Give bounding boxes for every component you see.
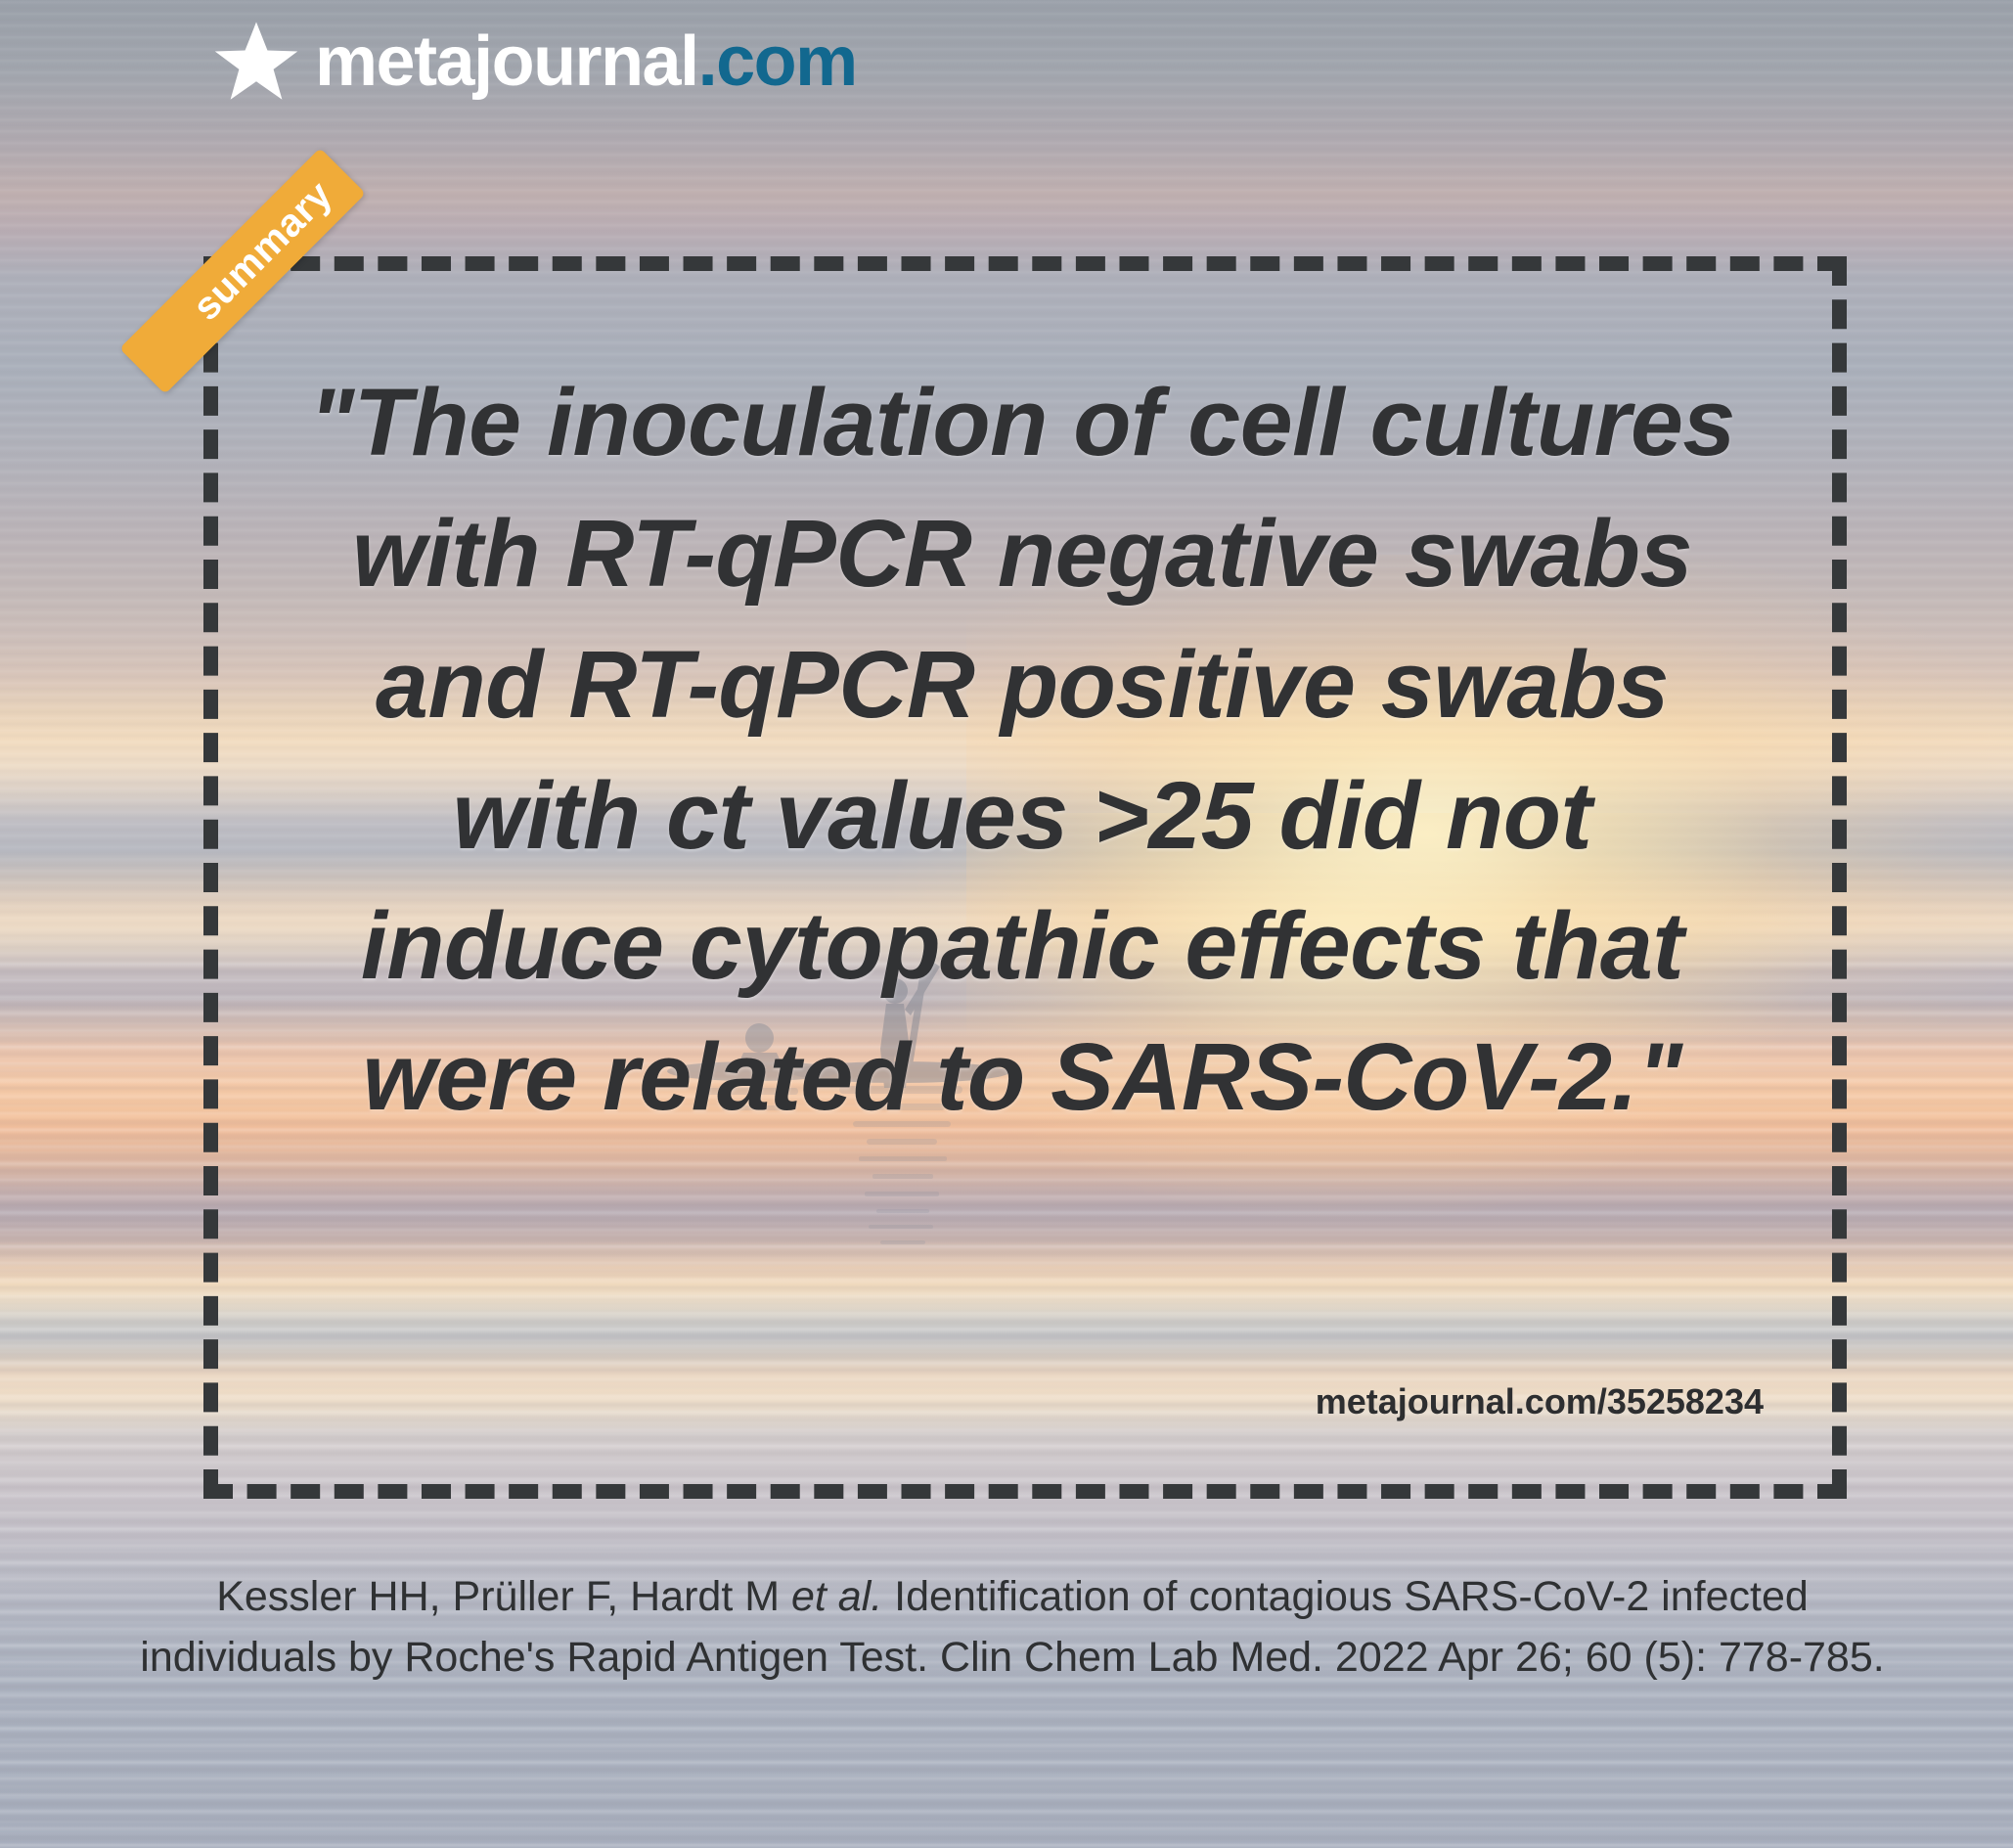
source-url[interactable]: metajournal.com/35258234 [1316, 1381, 1764, 1422]
brand-logo[interactable]: metajournal.com [213, 20, 857, 104]
citation-authors: Kessler HH, Prüller F, Hardt M [216, 1573, 791, 1620]
brand-name: metajournal [315, 23, 698, 101]
citation-etal: et al. [791, 1573, 882, 1620]
star-icon [213, 20, 299, 104]
quote-text: "The inoculation of cell cultures with R… [293, 357, 1751, 1143]
brand-wordmark: metajournal.com [315, 26, 857, 97]
quote-card: metajournal.com summary "The inoculation… [0, 0, 2013, 1848]
citation: Kessler HH, Prüller F, Hardt M et al. Id… [137, 1567, 1888, 1689]
brand-tld: .com [698, 23, 857, 101]
